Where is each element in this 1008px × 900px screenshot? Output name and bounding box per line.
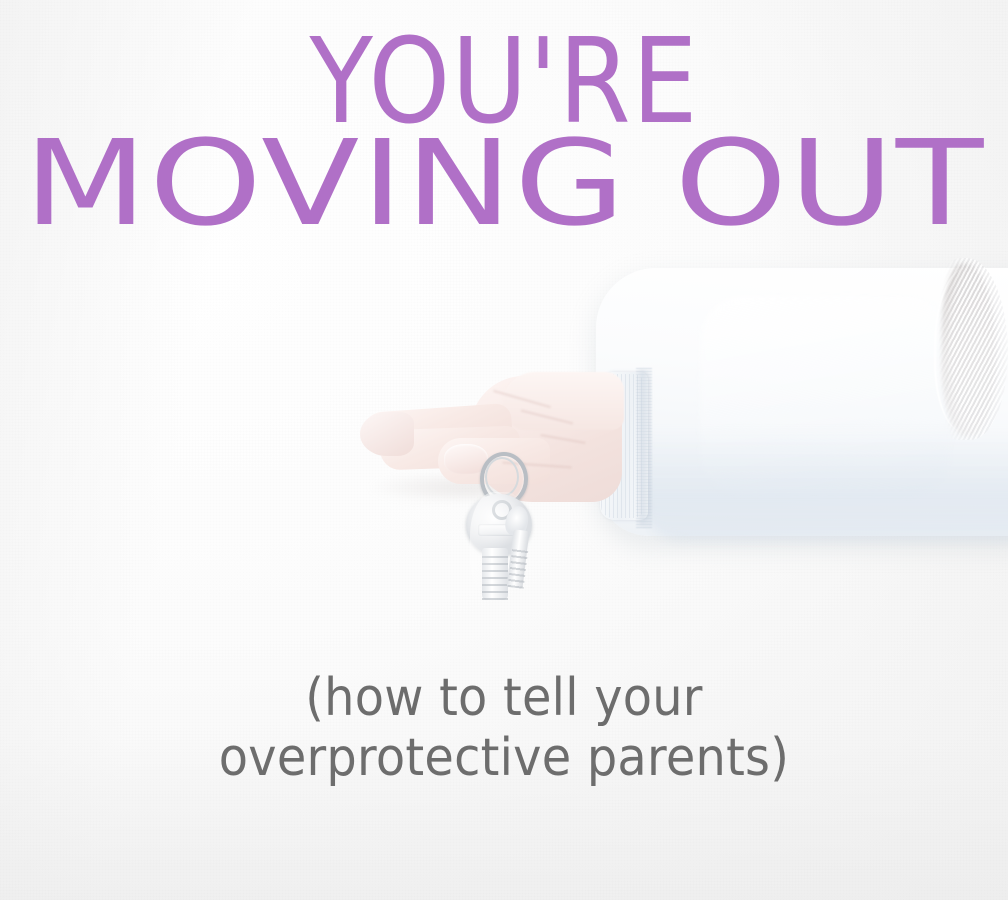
sleeve-shadow [640, 430, 1008, 542]
key-ring-inner [485, 457, 519, 497]
house-key-teeth [482, 556, 508, 600]
lace-ruffle-trim [930, 258, 1008, 440]
finger-tip [360, 412, 414, 456]
headline-line-2: MOVING OUT [101, 128, 907, 239]
subtitle-line-2: overprotective parents) [0, 728, 1008, 788]
poster-canvas: YOU'RE MOVING OUT (how to tell your over… [0, 0, 1008, 900]
headline-line-2-text: MOVING OUT [23, 128, 985, 239]
subtitle-line-1-text: (how to tell your [305, 668, 702, 728]
subtitle-line-1: (how to tell your [0, 668, 1008, 728]
sleeve-cuff-edge [640, 370, 652, 525]
subtitle-line-2-text: overprotective parents) [219, 728, 789, 788]
